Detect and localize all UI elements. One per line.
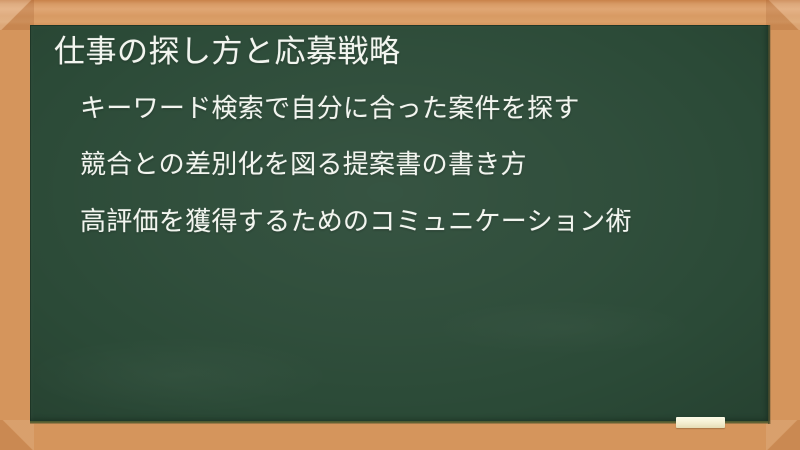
slide-title: 仕事の探し方と応募戦略 <box>54 33 748 72</box>
chalk-stick-icon <box>676 417 725 428</box>
list-item: キーワード検索で自分に合った案件を探す <box>80 93 748 124</box>
chalkboard-slide: 仕事の探し方と応募戦略 キーワード検索で自分に合った案件を探す 競合との差別化を… <box>0 0 800 450</box>
list-item: 高評価を獲得するためのコミュニケーション術 <box>80 206 748 237</box>
board-content: 仕事の探し方と応募戦略 キーワード検索で自分に合った案件を探す 競合との差別化を… <box>30 25 770 423</box>
list-item: 競合との差別化を図る提案書の書き方 <box>80 149 748 180</box>
bullet-list: キーワード検索で自分に合った案件を探す 競合との差別化を図る提案書の書き方 高評… <box>52 93 748 237</box>
